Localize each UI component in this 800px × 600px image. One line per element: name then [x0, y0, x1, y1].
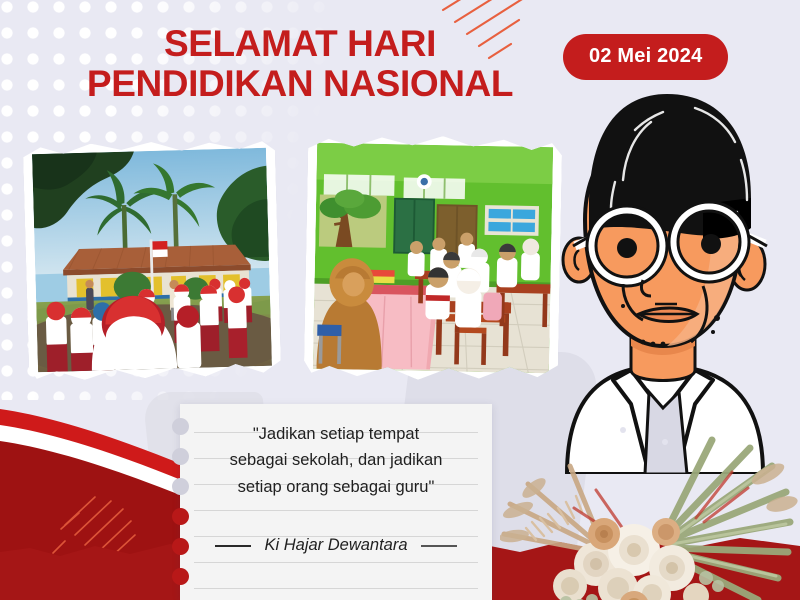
binder-ring: [172, 538, 189, 555]
quote-author: Ki Hajar Dewantara: [264, 536, 407, 555]
classroom-illustration: [313, 143, 553, 373]
binder-ring: [172, 568, 189, 585]
poster-canvas: Selamat Hari Pendidikan Nasional 02 Mei …: [0, 0, 800, 600]
attribution-dash-left: [215, 545, 251, 547]
page-title: Selamat Hari Pendidikan Nasional: [40, 24, 560, 104]
binder-ring: [172, 448, 189, 465]
dried-floral-bouquet-decoration: [500, 418, 800, 600]
quote-card: "Jadikan setiap tempat sebagai sekolah, …: [180, 404, 492, 600]
quote-attribution: Ki Hajar Dewantara: [180, 536, 492, 555]
flag-ceremony-illustration: [32, 148, 272, 372]
binder-ring: [172, 478, 189, 495]
ki-hajar-dewantara-portrait: [527, 74, 800, 474]
binder-ring: [172, 418, 189, 435]
classroom-photo: [304, 134, 563, 383]
notepad-binder-rings: [172, 404, 198, 600]
flag-ceremony-photo: [23, 139, 281, 382]
quote-text: "Jadikan setiap tempat sebagai sekolah, …: [192, 421, 480, 500]
diagonal-lines-decoration-bottom: [35, 495, 155, 565]
attribution-dash-right: [421, 545, 457, 547]
binder-ring: [172, 508, 189, 525]
